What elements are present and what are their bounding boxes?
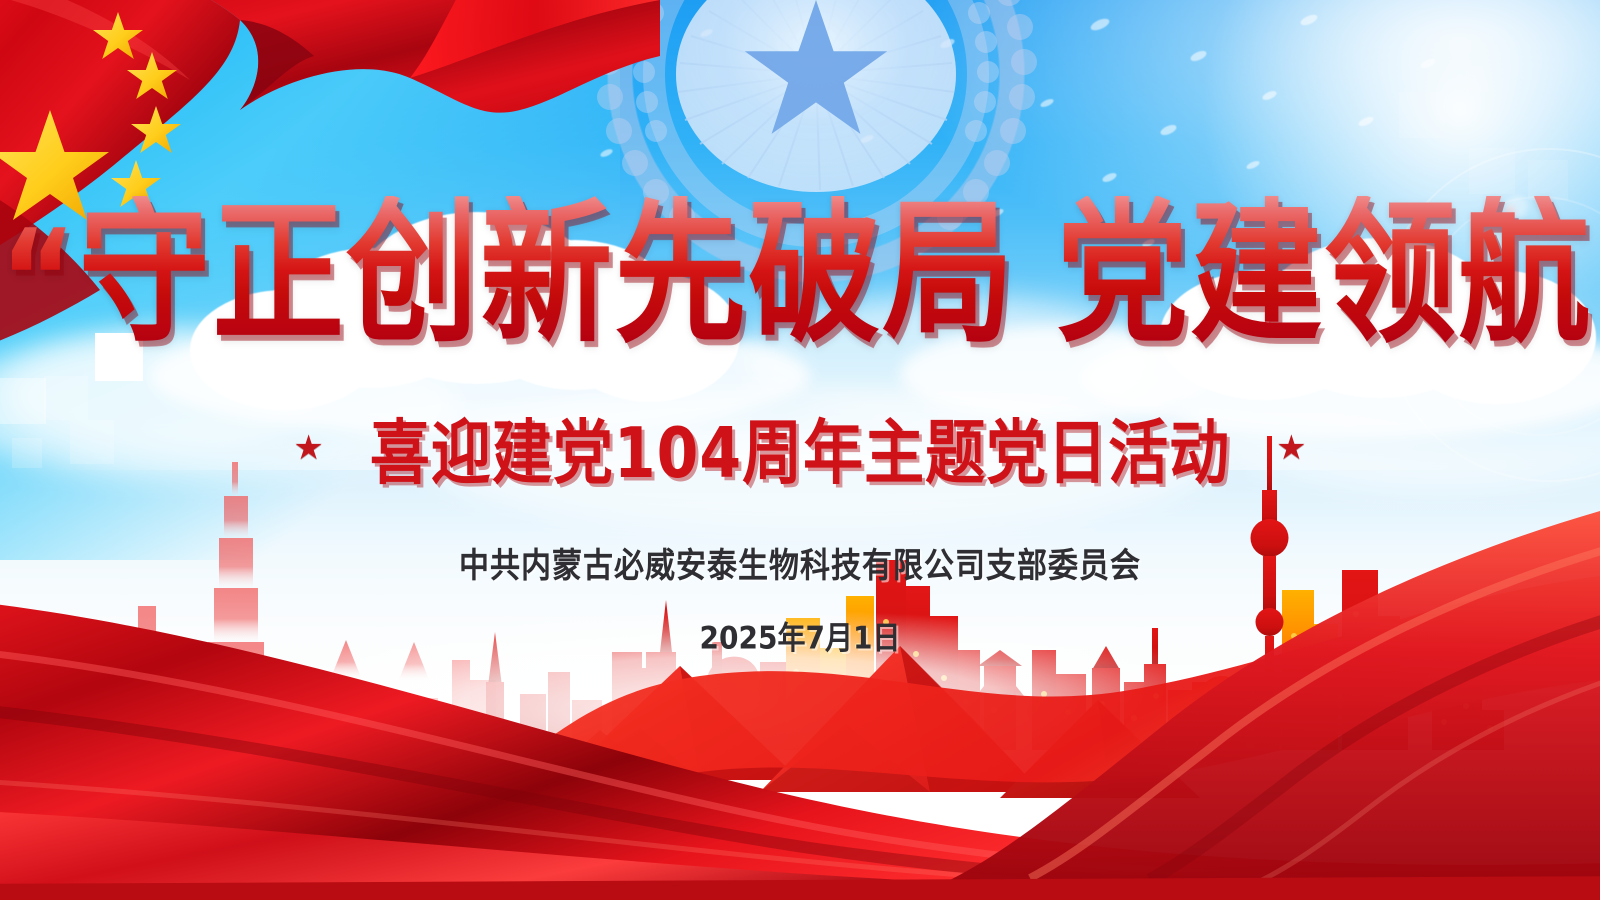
organization-name: 中共内蒙古必威安泰生物科技有限公司支部委员会 (0, 537, 1600, 587)
page-title: “守正创新先破局党建领航向阳生” (0, 196, 1600, 352)
banner-content: “守正创新先破局党建领航向阳生” ★ 喜迎建党104周年主题党日活动 ★ 中共内… (0, 0, 1600, 900)
right-star-icon: ★ (1276, 431, 1306, 465)
subtitle-row: ★ 喜迎建党104周年主题党日活动 ★ (0, 404, 1600, 491)
left-star-icon: ★ (293, 431, 323, 465)
headline-part-2: 党建领航向阳生 (1056, 183, 1600, 365)
headline-part-1: 守正创新先破局 (78, 183, 1016, 365)
open-quote: “ (0, 201, 78, 360)
event-date: 2025年7月1日 (0, 614, 1600, 659)
subtitle: 喜迎建党104周年主题党日活动 (370, 397, 1230, 498)
event-banner: “守正创新先破局党建领航向阳生” ★ 喜迎建党104周年主题党日活动 ★ 中共内… (0, 0, 1600, 900)
